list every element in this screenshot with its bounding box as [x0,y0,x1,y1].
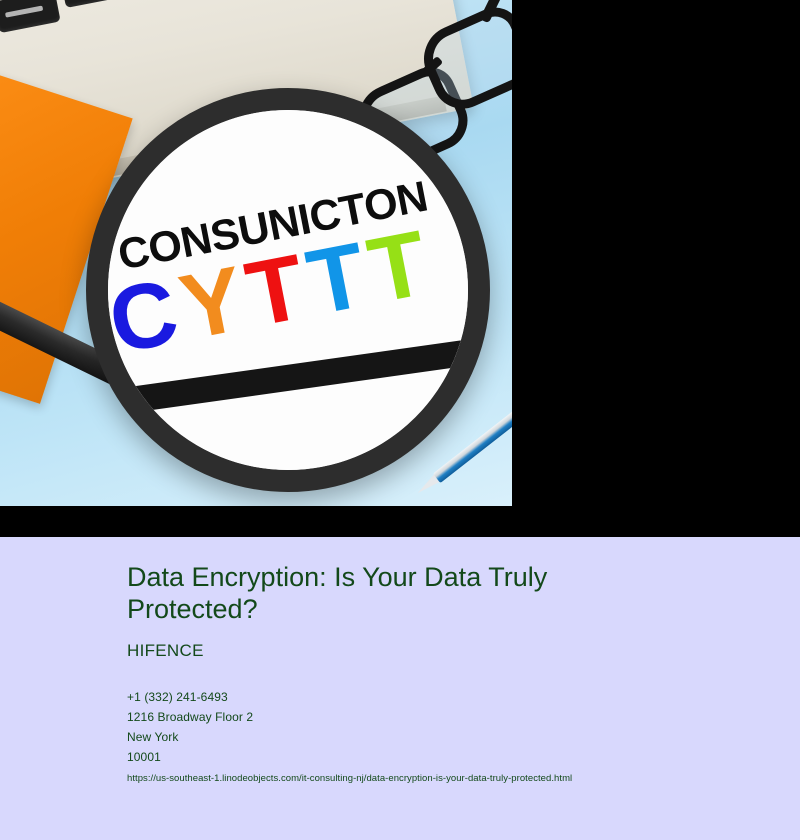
keyboard-key [0,0,61,33]
contact-street: 1216 Broadway Floor 2 [127,707,767,727]
magnifier-letter-5: T [362,216,437,317]
page-url[interactable]: https://us-southeast-1.linodeobjects.com… [127,772,767,786]
info-panel: Data Encryption: Is Your Data Truly Prot… [0,537,800,840]
brand-name: HIFENCE [127,641,767,661]
magnifier-letter-1: C [102,265,187,368]
contact-postal-code: 10001 [127,747,767,767]
magnifier-lens-inner: CONSUNICTON CYTTT [108,110,468,470]
magnifier-letter-2: Y [173,252,253,354]
contact-block: +1 (332) 241-6493 1216 Broadway Floor 2 … [127,687,767,767]
contact-city: New York [127,727,767,747]
contact-phone: +1 (332) 241-6493 [127,687,767,707]
magnifier-lens: CONSUNICTON CYTTT [86,88,490,492]
hero-photo: enter ctrl alt [0,0,512,506]
info-content: Data Encryption: Is Your Data Truly Prot… [127,561,767,786]
page-title: Data Encryption: Is Your Data Truly Prot… [127,561,647,625]
page-root: enter ctrl alt [0,0,800,840]
keyboard-key-ctrl: ctrl [61,0,125,8]
hero-band: enter ctrl alt [0,0,800,537]
